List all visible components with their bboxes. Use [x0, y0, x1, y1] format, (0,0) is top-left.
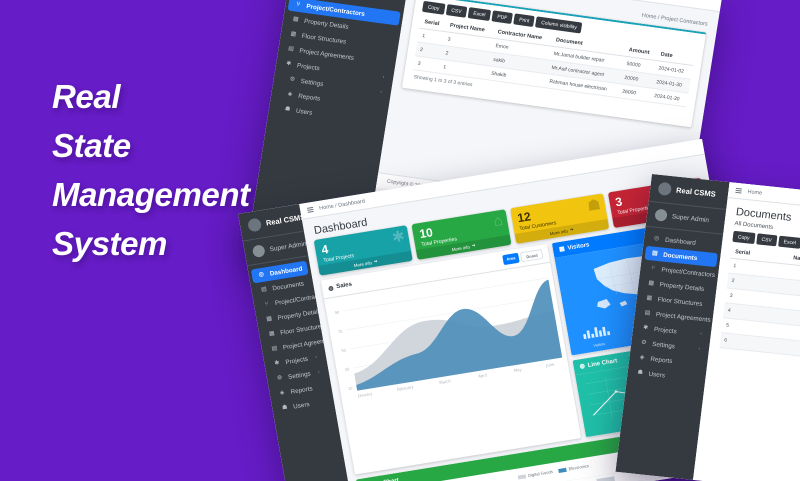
sidebar-item-label: Floor Structures: [301, 32, 346, 45]
contractor-icon: ⑂: [263, 301, 271, 309]
reports-icon: ◈: [638, 354, 646, 362]
copy-button[interactable]: Copy: [732, 231, 755, 244]
sidebar-item-label: Users: [648, 370, 665, 379]
svg-text:May: May: [513, 367, 522, 374]
projects-icon: ✱: [285, 60, 293, 68]
sidebar-item-label: Project/Contractors: [661, 266, 715, 279]
sidebar-item-label: Property Details: [277, 307, 322, 321]
user-icon: ☗: [586, 197, 602, 214]
projects-icon: ✱: [273, 360, 281, 368]
property-icon: ▩: [647, 280, 655, 288]
floor-icon: ▦: [268, 330, 276, 338]
copy-button[interactable]: Copy: [422, 1, 445, 15]
svg-text:30: 30: [345, 367, 351, 372]
sidebar-item-label: Projects: [285, 355, 309, 366]
cell-name: [778, 339, 800, 366]
sidebar-item-label: Floor Structures: [657, 296, 702, 308]
line-chart-title: Line Chart: [587, 358, 617, 369]
bar-chart-title: Bar Chart: [371, 477, 399, 481]
projects-icon: ✱: [642, 324, 650, 332]
floor-icon: ▦: [645, 295, 653, 303]
chevron-left-icon: ‹: [382, 74, 385, 80]
chevron-left-icon: ‹: [315, 354, 318, 360]
sidebar-item-label: Users: [293, 401, 310, 411]
mini-chart-visitors: Visitors: [581, 322, 615, 349]
svg-text:70: 70: [338, 329, 344, 334]
documents-table: Serial Name 1 2 3 4 5 6: [719, 246, 800, 366]
hero-headline: Real State Management System: [52, 72, 302, 268]
chevron-left-icon: ‹: [700, 331, 702, 337]
projects-icon: ✱: [391, 229, 406, 246]
agreement-icon: ▤: [270, 345, 278, 353]
sidebar-item-label: Settings: [300, 77, 324, 87]
hero-line-3: Management: [52, 170, 302, 219]
donut-toggle-button[interactable]: Donut: [520, 249, 543, 262]
svg-text:June: June: [545, 361, 555, 368]
sparkline-icon: [581, 322, 613, 340]
hero-line-2: State: [52, 121, 302, 170]
column-visibility-button[interactable]: Column visibility: [535, 16, 582, 33]
sidebar-item-label: Project Agreements: [656, 311, 712, 324]
user-name: Super Admin: [672, 213, 710, 224]
svg-text:10: 10: [348, 386, 354, 391]
sidebar-item-label: Projects: [297, 62, 321, 72]
sidebar-item-label: Documents: [272, 280, 305, 292]
csv-button[interactable]: CSV: [756, 233, 778, 246]
sidebar-item-label: Property Details: [304, 17, 349, 30]
agreement-icon: ▤: [644, 309, 652, 317]
users-icon: ☗: [281, 404, 289, 412]
svg-text:90: 90: [334, 310, 340, 315]
arrow-circle-right-icon: ➜: [471, 242, 476, 248]
more-info-label: More info: [451, 244, 470, 252]
sidebar-item-label: Reports: [650, 355, 673, 364]
sidebar-item-label: Documents: [663, 251, 698, 262]
topbar-home-link[interactable]: Home / Dashboard: [319, 198, 366, 211]
hamburger-icon[interactable]: [735, 188, 742, 194]
chart-icon: ◍: [328, 284, 334, 292]
hero-line-4: System: [52, 219, 302, 268]
property-icon: ▩: [292, 16, 300, 24]
svg-text:50: 50: [341, 348, 347, 353]
contractor-icon: ⑂: [649, 265, 657, 273]
sidebar-item-label: Dashboard: [665, 236, 697, 246]
svg-text:April: April: [478, 372, 487, 379]
sidebar-item-label: Settings: [652, 340, 675, 349]
document-icon: ▤: [260, 286, 268, 294]
sidebar-item-label: Floor Structures: [280, 322, 325, 336]
sales-chart-title: Sales: [336, 282, 353, 290]
floor-icon: ▦: [289, 31, 297, 39]
sidebar-item-label: Settings: [287, 370, 311, 381]
csv-button[interactable]: CSV: [445, 4, 467, 18]
svg-text:February: February: [397, 384, 415, 392]
users-icon: ☗: [636, 369, 644, 377]
more-info-label: More info: [549, 228, 568, 236]
property-icon: ▩: [265, 315, 273, 323]
map-icon: ▦: [559, 245, 566, 253]
hamburger-icon[interactable]: [307, 207, 314, 213]
avatar: [654, 209, 667, 222]
hero-line-1: Real: [52, 72, 302, 121]
svg-text:January: January: [357, 391, 374, 399]
logo-icon: [658, 182, 673, 196]
chevron-left-icon: ‹: [317, 369, 320, 375]
sidebar-item-label: Projects: [654, 326, 677, 335]
chevron-left-icon: ‹: [380, 89, 383, 95]
area-toggle-button[interactable]: Area: [502, 253, 520, 266]
sales-chart-card: ◍ Sales Area Donut: [321, 244, 581, 475]
svg-text:March: March: [439, 378, 452, 385]
chart-line-icon: ◍: [579, 363, 585, 371]
sidebar-item-label: Property Details: [659, 281, 704, 293]
promo-banner: Real State Management System Super Admin…: [0, 0, 800, 481]
brand-name: Real CSMS: [676, 186, 716, 199]
reports-icon: ◈: [278, 389, 286, 397]
gear-icon: ⚙: [640, 339, 648, 347]
chevron-left-icon: ‹: [698, 346, 700, 352]
excel-button[interactable]: Excel: [778, 236, 800, 249]
pdf-button[interactable]: PDF: [492, 10, 514, 24]
print-button[interactable]: Print: [513, 13, 535, 27]
sidebar-item-label: Reports: [290, 385, 313, 395]
contractor-icon: ⑂: [294, 1, 302, 9]
mini-chart-label: Visitors: [584, 341, 614, 350]
more-info-label: More info: [353, 260, 372, 268]
dashboard-icon: ◎: [257, 271, 265, 279]
topbar-home-link[interactable]: Home: [747, 189, 762, 196]
agreement-icon: ▤: [287, 45, 295, 53]
home-icon: ⌂: [492, 213, 504, 229]
visitors-map-title: Visitors: [567, 242, 590, 251]
document-icon: ▤: [651, 250, 659, 258]
arrow-circle-right-icon: ➜: [569, 227, 574, 233]
dashboard-icon: ◎: [653, 235, 661, 243]
arrow-circle-right-icon: ➜: [373, 258, 378, 264]
excel-button[interactable]: Excel: [468, 7, 492, 21]
gear-icon: ⚙: [276, 374, 284, 382]
